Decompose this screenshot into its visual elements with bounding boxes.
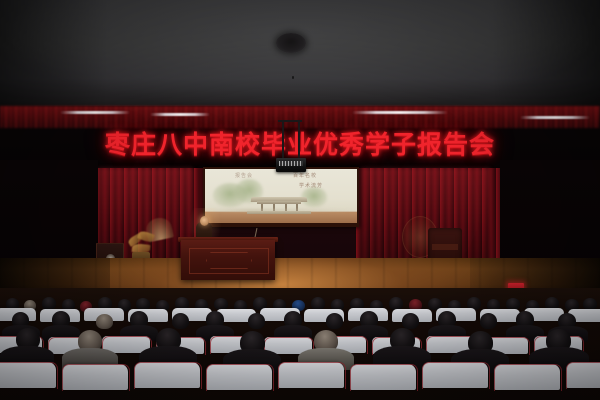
ceiling-shading	[0, 0, 600, 112]
pavilion-roof-lower	[257, 201, 301, 204]
audience-chair-trim	[134, 362, 202, 389]
ceiling-light-strip	[150, 113, 210, 116]
ceiling-light-strip	[352, 111, 448, 114]
audience-chair-trim	[206, 364, 274, 391]
led-ceiling-reflection	[0, 106, 600, 128]
screen-ground-wash	[205, 209, 357, 212]
audience-head	[96, 314, 113, 329]
audience-head	[172, 313, 189, 329]
ceiling-light-fixture-icon	[276, 33, 306, 53]
audience-head	[326, 313, 343, 329]
audience-chair-trim	[62, 364, 130, 391]
projector-mount-arm	[298, 120, 300, 160]
screen-subheading-text: 学术流芳	[299, 182, 323, 189]
audience-chair-trim	[0, 362, 58, 389]
ceiling-light-strip	[520, 116, 590, 119]
audience-chair-trim	[350, 364, 418, 391]
podium-diamond-ornament	[206, 252, 252, 269]
auditorium-photo: 枣庄八中南校毕业优秀学子报告会 报告会 百年名校 学术流芳	[0, 0, 600, 400]
screen-corner-text: 报告会	[235, 172, 253, 179]
projector-mount-arm	[282, 120, 284, 160]
ceiling-light-strip	[60, 111, 130, 114]
audience-chair-trim	[422, 362, 490, 389]
banner-title-text: 枣庄八中南校毕业优秀学子报告会	[0, 126, 600, 162]
audience-seating-area	[0, 288, 600, 400]
projection-screen: 报告会 百年名校 学术流芳	[205, 169, 357, 223]
audience-chair-trim	[278, 362, 346, 389]
audience-head	[402, 313, 419, 329]
speaker-head	[200, 216, 209, 226]
ceiling-mount-point	[292, 76, 294, 79]
audience-chair-trim	[494, 364, 562, 391]
audience-head	[248, 313, 265, 329]
audience-chair-trim	[566, 362, 600, 389]
screen-heading-text: 百年名校	[293, 172, 317, 179]
audience-head	[480, 313, 497, 329]
projector-icon	[276, 158, 306, 172]
